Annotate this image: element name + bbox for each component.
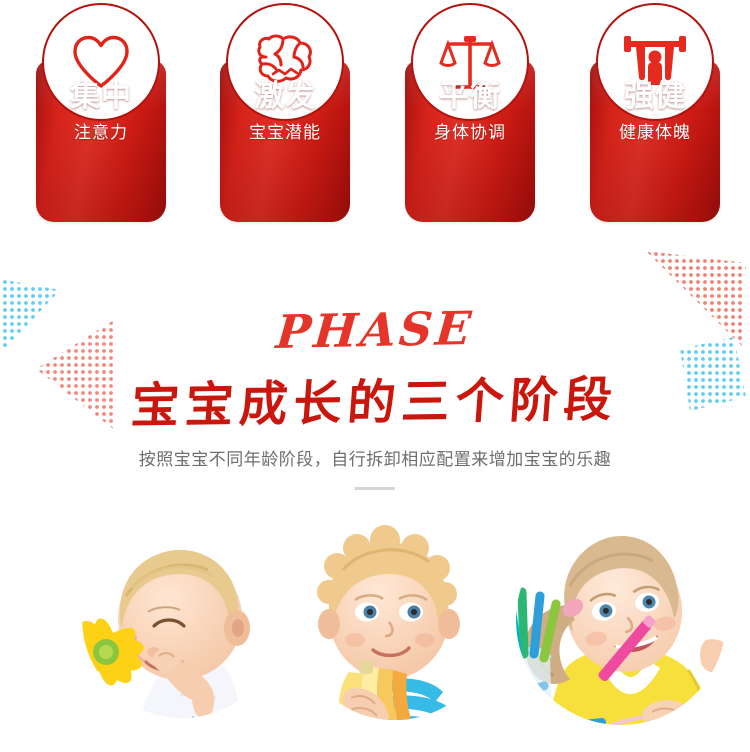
badge-title: 强健 xyxy=(590,78,720,116)
feature-badge-jizhong[interactable]: 集中 注意力 xyxy=(36,0,166,225)
photos-row xyxy=(0,500,750,752)
feature-badge-jifa[interactable]: 激发 宝宝潜能 xyxy=(220,0,350,225)
feature-badge-qiangjian[interactable]: 强健 健康体魄 xyxy=(590,0,720,225)
badge-text-group: 强健 健康体魄 xyxy=(590,78,720,146)
badge-text-group: 激发 宝宝潜能 xyxy=(220,78,350,146)
badge-subtitle: 宝宝潜能 xyxy=(220,120,350,146)
girl-with-markers-photo xyxy=(492,500,750,752)
toddler-with-banana-photo xyxy=(285,500,505,752)
badge-text-group: 平衡 身体协调 xyxy=(405,78,535,146)
heading-section: PHASE 宝宝成长的三个阶段 按照宝宝不同年龄阶段，自行拆卸相应配置来增加宝宝… xyxy=(0,255,750,500)
badge-subtitle: 注意力 xyxy=(36,120,166,146)
badge-title: 激发 xyxy=(220,78,350,116)
feature-badge-pingheng[interactable]: 平衡 身体协调 xyxy=(405,0,535,225)
heading-divider xyxy=(355,487,395,490)
feature-badges-row: 集中 注意力 xyxy=(0,0,750,250)
badge-subtitle: 身体协调 xyxy=(405,120,535,146)
badge-title: 集中 xyxy=(36,78,166,116)
badge-text-group: 集中 注意力 xyxy=(36,78,166,146)
badge-title: 平衡 xyxy=(405,78,535,116)
badge-subtitle: 健康体魄 xyxy=(590,120,720,146)
heading-english-title: PHASE xyxy=(0,295,750,365)
baby-with-flower-photo xyxy=(62,500,302,752)
promo-page: 集中 注意力 xyxy=(0,0,750,752)
page-title: 宝宝成长的三个阶段 xyxy=(0,358,750,438)
heading-description: 按照宝宝不同年龄阶段，自行拆卸相应配置来增加宝宝的乐趣 xyxy=(0,445,750,470)
